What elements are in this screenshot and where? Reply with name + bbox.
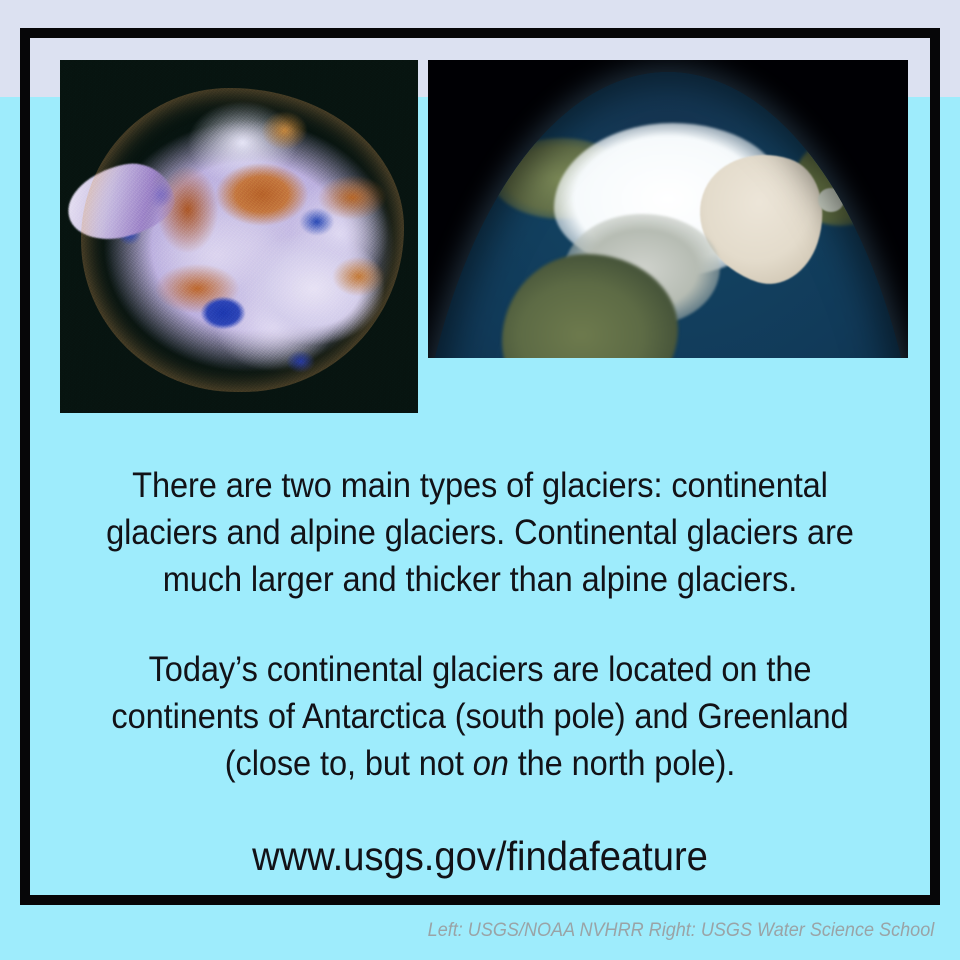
- paragraph-2-emphasis-word: on: [473, 744, 509, 783]
- globe-limb-shading: [428, 72, 908, 358]
- earth-sphere: [428, 72, 908, 358]
- paragraph-glacier-types: There are two main types of glaciers: co…: [80, 462, 880, 603]
- antarctica-image-grain: [60, 60, 418, 413]
- poster-text-block: There are two main types of glaciers: co…: [50, 462, 910, 881]
- antarctica-satellite-image: [60, 60, 418, 413]
- arctic-globe-image: [428, 60, 908, 358]
- poster-canvas: There are two main types of glaciers: co…: [0, 0, 960, 960]
- usgs-url[interactable]: www.usgs.gov/findafeature: [80, 831, 880, 881]
- paragraph-2-text-after: the north pole).: [509, 744, 735, 783]
- paragraph-glacier-locations: Today’s continental glaciers are located…: [80, 646, 880, 787]
- image-credit-caption: Left: USGS/NOAA NVHRR Right: USGS Water …: [427, 920, 934, 942]
